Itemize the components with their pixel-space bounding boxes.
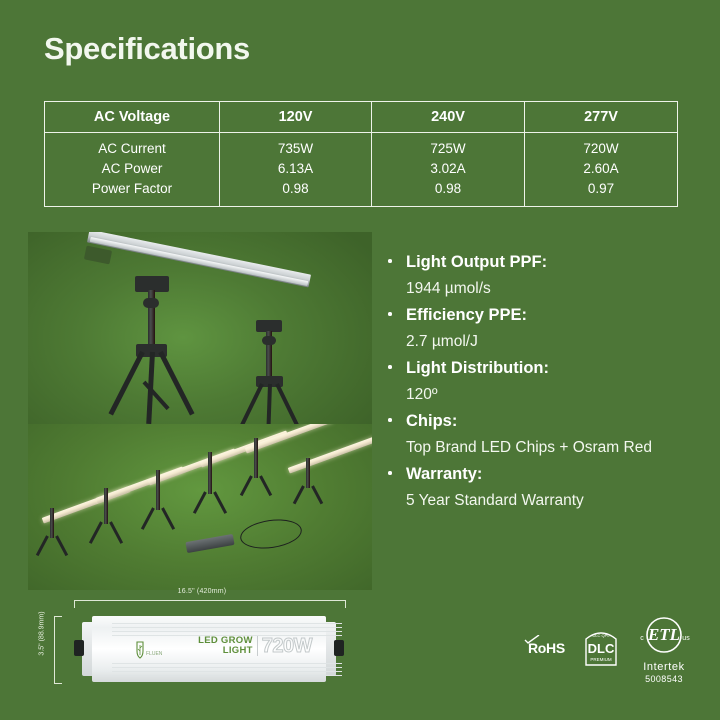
value-277v-current: 720W <box>525 139 677 159</box>
table-cell-240v-values: 725W 3.02A 0.98 <box>372 133 525 207</box>
fixture-wattage: 720W <box>262 636 312 656</box>
dimension-height-bracket <box>54 616 62 684</box>
array-tripod-leg <box>240 475 253 496</box>
fixture-brand-line2: LIGHT <box>198 646 253 656</box>
array-tripod <box>50 508 54 538</box>
fixture-drawing: FLUENCE LED GROW LIGHT 720W <box>74 616 344 682</box>
svg-text:DLC: DLC <box>588 641 615 656</box>
fixture-branding: LED GROW LIGHT 720W <box>198 636 312 656</box>
value-120v-current: 735W <box>220 139 371 159</box>
bullet-dot-icon <box>388 418 392 422</box>
svg-text:ETL: ETL <box>647 625 680 644</box>
fixture-fin <box>112 663 342 664</box>
table-cell-120v-values: 735W 6.13A 0.98 <box>220 133 372 207</box>
svg-text:FLUENCE: FLUENCE <box>146 651 162 657</box>
array-tripod-leg <box>259 475 272 496</box>
table-cell-277v-values: 720W 2.60A 0.97 <box>525 133 678 207</box>
spec-item-efficiency: Efficiency PPE: <box>384 303 694 328</box>
row-label-power-factor: Power Factor <box>45 179 219 199</box>
bullet-dot-icon <box>388 259 392 263</box>
spec-item-light-distribution: Light Distribution: <box>384 356 694 381</box>
page-title: Specifications <box>44 31 250 67</box>
power-driver-box <box>185 534 234 553</box>
array-tripod <box>208 452 212 494</box>
dimension-width-bracket <box>74 600 346 608</box>
fixture-fin <box>112 627 342 628</box>
fixture-text-divider <box>257 636 258 656</box>
etl-intertek-logo: ETL c us Intertek 5008543 <box>628 616 700 682</box>
dimension-width-label: 16.5" (420mm) <box>32 588 372 595</box>
etl-number-label: 5008543 <box>628 674 700 685</box>
array-light-bar <box>245 424 334 454</box>
array-tripod-leg <box>89 521 103 544</box>
value-240v-power: 3.02A <box>372 159 524 179</box>
fixture-housing: FLUENCE LED GROW LIGHT 720W <box>92 616 326 682</box>
product-photo-array <box>28 424 372 590</box>
fixture-fin <box>112 623 342 624</box>
spec-item-light-output: Light Output PPF: <box>384 250 694 275</box>
dimension-height-label: 3.5" (88.9mm) <box>39 602 46 666</box>
rohs-logo: RoHS <box>528 640 565 658</box>
spec-value-chips: Top Brand LED Chips + Osram Red <box>384 435 694 460</box>
array-tripod-leg <box>55 535 68 556</box>
spec-item-warranty: Warranty: <box>384 462 694 487</box>
product-photo-tripod-fixture <box>28 232 372 424</box>
spec-value-light-distribution: 120º <box>384 382 694 407</box>
svg-text:DLC QPL: DLC QPL <box>592 633 610 638</box>
fixture-fin <box>112 631 342 632</box>
dlc-premium-logo: DLC QPL DLC PREMIUM <box>582 625 620 669</box>
svg-text:us: us <box>682 635 690 642</box>
brand-logo-icon: FLUENCE <box>128 640 162 660</box>
spec-label: Light Distribution: <box>406 359 549 377</box>
array-tripod-leg <box>36 535 49 556</box>
tripod-lock-left <box>143 298 159 308</box>
array-tripod-leg <box>193 491 207 514</box>
table-body-row: AC Current AC Power Power Factor 735W 6.… <box>45 133 678 207</box>
array-tripod <box>156 470 160 510</box>
spec-value-light-output: 1944 µmol/s <box>384 276 694 301</box>
tripod-lock-right <box>262 336 276 345</box>
fixture-fin <box>112 671 342 672</box>
value-277v-factor: 0.97 <box>525 179 677 199</box>
array-light-bar <box>288 436 372 473</box>
spec-label: Chips: <box>406 412 457 430</box>
fixture-connector-left <box>74 640 84 656</box>
table-header-cell-voltage: AC Voltage <box>45 102 220 133</box>
fixture-brand-text: LED GROW LIGHT <box>198 636 253 656</box>
array-tripod-leg <box>213 491 227 514</box>
spec-label: Warranty: <box>406 465 482 483</box>
value-240v-current: 725W <box>372 139 524 159</box>
tripod-leg <box>237 383 264 424</box>
spec-label: Light Output PPF: <box>406 253 547 271</box>
tripod-leg <box>108 351 144 416</box>
check-icon <box>524 631 540 640</box>
power-cable-coil <box>238 516 303 552</box>
table-cell-row-labels: AC Current AC Power Power Factor <box>45 133 220 207</box>
spec-value-warranty: 5 Year Standard Warranty <box>384 488 694 513</box>
fixture-fin <box>112 667 342 668</box>
etl-company-label: Intertek <box>628 661 700 674</box>
certification-logos: RoHS DLC QPL DLC PREMIUM ETL c us Intert… <box>520 612 700 692</box>
svg-text:PREMIUM: PREMIUM <box>590 657 612 662</box>
table-header-cell-120v: 120V <box>220 102 372 133</box>
dimension-diagram: 16.5" (420mm) 3.5" (88.9mm) <box>32 588 372 688</box>
spec-table: AC Voltage 120V 240V 277V AC Current AC … <box>44 101 678 207</box>
row-label-ac-current: AC Current <box>45 139 219 159</box>
tripod-leg <box>275 383 302 424</box>
array-tripod <box>306 458 310 488</box>
value-120v-factor: 0.98 <box>220 179 371 199</box>
value-277v-power: 2.60A <box>525 159 677 179</box>
light-bar-endcap <box>84 246 112 265</box>
spec-item-chips: Chips: <box>384 409 694 434</box>
fixture-connector-right <box>334 640 344 656</box>
array-tripod-leg <box>311 485 323 504</box>
specifications-page: Specifications AC Voltage 120V 240V 277V… <box>0 0 720 720</box>
array-tripod-leg <box>293 485 305 504</box>
table-header-cell-240v: 240V <box>372 102 525 133</box>
spec-value-efficiency: 2.7 µmol/J <box>384 329 694 354</box>
array-tripod <box>254 438 258 478</box>
array-tripod-leg <box>109 521 123 544</box>
array-tripod <box>104 488 108 524</box>
value-240v-factor: 0.98 <box>372 179 524 199</box>
table-header-cell-277v: 277V <box>525 102 678 133</box>
light-bar-lens <box>90 237 309 286</box>
row-label-ac-power: AC Power <box>45 159 219 179</box>
table-header-row: AC Voltage 120V 240V 277V <box>45 102 678 133</box>
tripod-leg <box>266 384 272 424</box>
spec-label: Efficiency PPE: <box>406 306 527 324</box>
array-tripod-leg <box>141 507 155 530</box>
bullet-dot-icon <box>388 312 392 316</box>
bullet-dot-icon <box>388 365 392 369</box>
spec-bullet-list: Light Output PPF: 1944 µmol/s Efficiency… <box>384 250 694 515</box>
fixture-fin <box>112 675 342 676</box>
bullet-dot-icon <box>388 471 392 475</box>
svg-text:c: c <box>640 635 644 642</box>
value-120v-power: 6.13A <box>220 159 371 179</box>
array-tripod-leg <box>161 507 175 530</box>
